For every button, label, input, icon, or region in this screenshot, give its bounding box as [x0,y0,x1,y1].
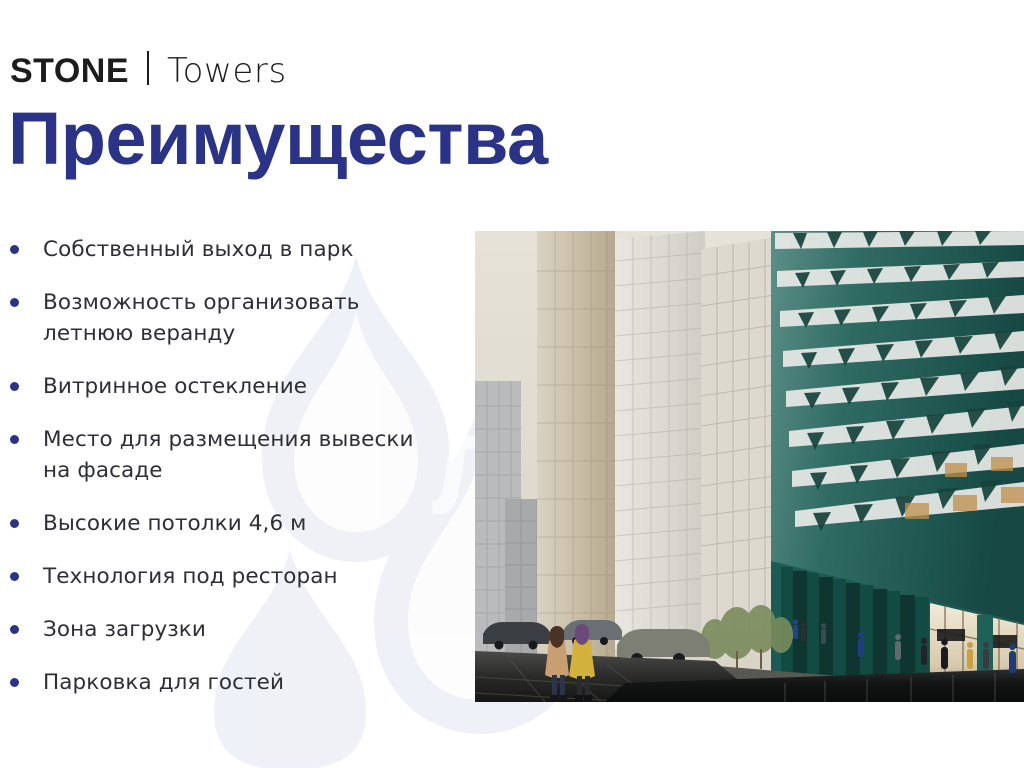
bullet-icon [10,519,19,528]
bullet-icon [10,382,19,391]
benefits-list: Собственный выход в парк Возможность орг… [10,234,440,720]
list-item-label: Технология под ресторан [43,561,338,592]
bullet-icon [10,435,19,444]
bullet-icon [10,298,19,307]
presentation-slide: ОФИС ЛОПЕР STONE Towers Преимущества Соб… [0,0,1024,768]
list-item: Технология под ресторан [10,561,440,592]
list-item-label: Место для размещения вывески на фасаде [43,424,440,486]
list-item: Место для размещения вывески на фасаде [10,424,440,486]
list-item-label: Парковка для гостей [43,667,284,698]
logo-divider [147,51,149,85]
list-item: Парковка для гостей [10,667,440,698]
list-item-label: Собственный выход в парк [43,234,354,265]
stone-towers-logo: STONE Towers [10,48,287,91]
list-item-label: Зона загрузки [43,614,206,645]
building-render-image [475,231,1024,702]
list-item: Зона загрузки [10,614,440,645]
list-item: Собственный выход в парк [10,234,440,265]
bullet-icon [10,572,19,581]
list-item-label: Высокие потолки 4,6 м [43,508,307,539]
bullet-icon [10,245,19,254]
list-item: Витринное остекление [10,371,440,402]
logo-brand-text: STONE [10,52,129,91]
list-item: Высокие потолки 4,6 м [10,508,440,539]
render-illustration [475,231,1024,702]
page-title: Преимущества [8,97,548,181]
bullet-icon [10,625,19,634]
bullet-icon [10,678,19,687]
logo-sub-text: Towers [167,51,287,91]
list-item-label: Витринное остекление [43,371,307,402]
list-item: Возможность организовать летнюю веранду [10,287,440,349]
list-item-label: Возможность организовать летнюю веранду [43,287,440,349]
